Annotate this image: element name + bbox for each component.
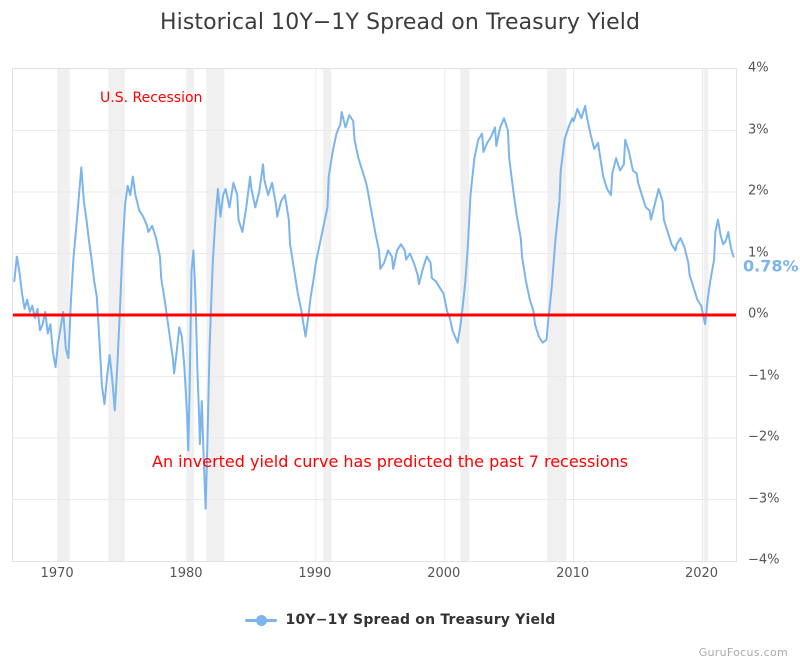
plot-area [12,68,737,562]
x-axis-tick-label: 1980 [169,566,202,581]
current-value-flag: 0.78% [743,257,799,276]
y-axis-tick-label: −2% [748,430,780,445]
x-axis-tick-label: 1990 [298,566,331,581]
legend: 10Y−1Y Spread on Treasury Yield [0,612,800,628]
chart-container: Historical 10Y−1Y Spread on Treasury Yie… [0,0,800,667]
page-title: Historical 10Y−1Y Spread on Treasury Yie… [0,10,800,35]
y-axis-tick-label: 3% [748,122,769,137]
x-axis-tick-label: 2010 [556,566,589,581]
y-axis-tick-label: −1% [748,368,780,383]
x-axis-tick-label: 2020 [685,566,718,581]
x-axis-tick-label: 2000 [427,566,460,581]
annotation-recession-label: U.S. Recession [100,90,202,106]
y-axis-tick-label: 4% [748,61,769,76]
plot-svg [13,69,736,561]
annotation-inverted-yield-note: An inverted yield curve has predicted th… [152,452,628,471]
y-axis-tick-label: 2% [748,184,769,199]
y-axis-tick-label: −3% [748,491,780,506]
legend-item-label: 10Y−1Y Spread on Treasury Yield [286,612,556,628]
watermark: GuruFocus.com [699,646,788,659]
y-axis-tick-label: 0% [748,307,769,322]
y-axis-tick-label: −4% [748,553,780,568]
legend-marker-icon [245,614,277,626]
x-axis-tick-label: 1970 [41,566,74,581]
